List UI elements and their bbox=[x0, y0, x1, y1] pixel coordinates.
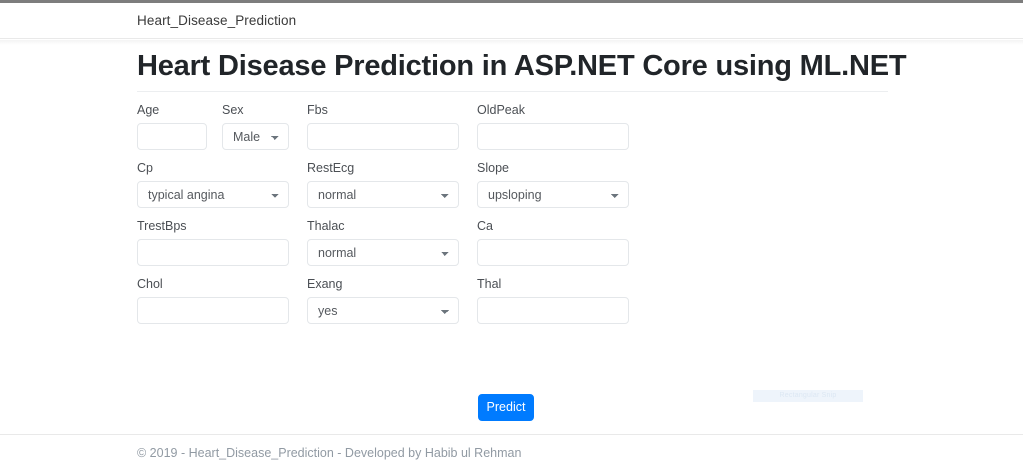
snip-tooltip-artifact: Rectangular Snip bbox=[753, 390, 863, 402]
field-thalac: Thalac normal bbox=[307, 219, 459, 266]
select-sex[interactable]: Male bbox=[222, 123, 289, 150]
label-chol: Chol bbox=[137, 277, 289, 292]
input-fbs[interactable] bbox=[307, 123, 459, 150]
label-oldpeak: OldPeak bbox=[477, 103, 629, 118]
select-cp[interactable]: typical angina bbox=[137, 181, 289, 208]
label-thalac: Thalac bbox=[307, 219, 459, 234]
footer: © 2019 - Heart_Disease_Prediction - Deve… bbox=[0, 434, 1023, 470]
field-restecg: RestEcg normal bbox=[307, 161, 459, 208]
footer-copyright: © 2019 - Heart_Disease_Prediction - Deve… bbox=[137, 446, 521, 460]
label-restecg: RestEcg bbox=[307, 161, 459, 176]
prediction-form: Age Sex Male Fbs OldPeak Cp bbox=[137, 103, 889, 403]
label-exang: Exang bbox=[307, 277, 459, 292]
label-ca: Ca bbox=[477, 219, 629, 234]
navbar: Heart_Disease_Prediction bbox=[0, 3, 1023, 39]
navbar-brand-link[interactable]: Heart_Disease_Prediction bbox=[137, 13, 296, 28]
field-age: Age bbox=[137, 103, 207, 150]
app-page: Heart_Disease_Prediction Heart Disease P… bbox=[0, 0, 1023, 470]
input-trestbps[interactable] bbox=[137, 239, 289, 266]
title-divider bbox=[137, 91, 888, 92]
field-sex: Sex Male bbox=[222, 103, 289, 150]
label-trestbps: TrestBps bbox=[137, 219, 289, 234]
field-slope: Slope upsloping bbox=[477, 161, 629, 208]
field-fbs: Fbs bbox=[307, 103, 459, 150]
label-cp: Cp bbox=[137, 161, 289, 176]
page-title: Heart Disease Prediction in ASP.NET Core… bbox=[137, 45, 889, 87]
label-sex: Sex bbox=[222, 103, 289, 118]
label-age: Age bbox=[137, 103, 207, 118]
field-exang: Exang yes bbox=[307, 277, 459, 324]
field-trestbps: TrestBps bbox=[137, 219, 289, 266]
input-thal[interactable] bbox=[477, 297, 629, 324]
field-chol: Chol bbox=[137, 277, 289, 324]
field-cp: Cp typical angina bbox=[137, 161, 289, 208]
field-ca: Ca bbox=[477, 219, 629, 266]
field-oldpeak: OldPeak bbox=[477, 103, 629, 150]
select-restecg[interactable]: normal bbox=[307, 181, 459, 208]
select-slope[interactable]: upsloping bbox=[477, 181, 629, 208]
input-chol[interactable] bbox=[137, 297, 289, 324]
select-exang[interactable]: yes bbox=[307, 297, 459, 324]
predict-button[interactable]: Predict bbox=[478, 394, 534, 421]
label-fbs: Fbs bbox=[307, 103, 459, 118]
main-container: Heart Disease Prediction in ASP.NET Core… bbox=[137, 45, 889, 403]
input-ca[interactable] bbox=[477, 239, 629, 266]
label-thal: Thal bbox=[477, 277, 629, 292]
field-thal: Thal bbox=[477, 277, 629, 324]
select-thalac[interactable]: normal bbox=[307, 239, 459, 266]
input-age[interactable] bbox=[137, 123, 207, 150]
input-oldpeak[interactable] bbox=[477, 123, 629, 150]
label-slope: Slope bbox=[477, 161, 629, 176]
